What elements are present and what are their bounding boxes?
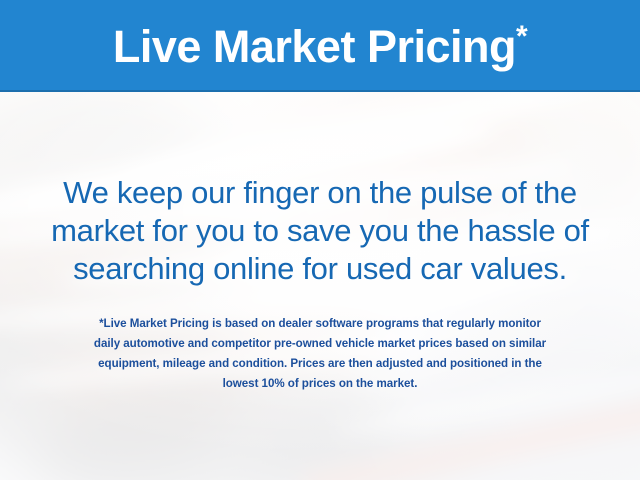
disclaimer-line: equipment, mileage and condition. Prices… (26, 354, 614, 374)
page-title: Live Market Pricing* (113, 22, 527, 69)
header-banner: Live Market Pricing* (0, 0, 640, 92)
headline-line: searching online for used car values. (22, 250, 618, 288)
headline-line: We keep our finger on the pulse of the (22, 174, 618, 212)
disclaimer-line: *Live Market Pricing is based on dealer … (26, 314, 614, 334)
disclaimer-fine-print: *Live Market Pricing is based on dealer … (26, 314, 614, 394)
headline-line: market for you to save you the hassle of (22, 212, 618, 250)
live-market-pricing-banner: Live Market Pricing* We keep our finger … (0, 0, 640, 480)
disclaimer-line: daily automotive and competitor pre-owne… (26, 334, 614, 354)
footnote-asterisk-marker: * (516, 20, 527, 53)
page-title-text: Live Market Pricing (113, 21, 516, 72)
headline: We keep our finger on the pulse of the m… (22, 174, 618, 288)
disclaimer-line: lowest 10% of prices on the market. (26, 374, 614, 394)
content-area: We keep our finger on the pulse of the m… (0, 92, 640, 480)
